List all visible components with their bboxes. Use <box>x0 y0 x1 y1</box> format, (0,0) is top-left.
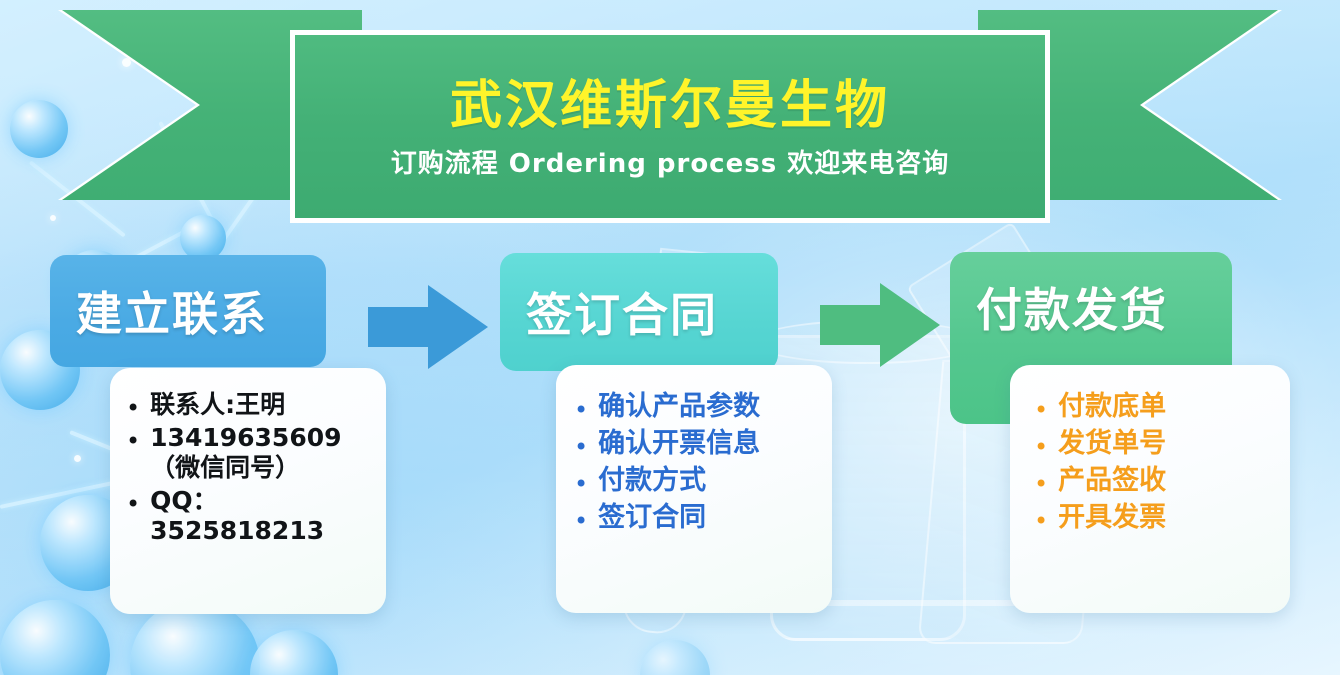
step2-body: • 确认产品参数 • 确认开票信息 • 付款方式 • 签订合同 <box>556 365 832 613</box>
step2-list: • 确认产品参数 • 确认开票信息 • 付款方式 • 签订合同 <box>574 389 820 535</box>
step3-list: • 付款底单 • 发货单号 • 产品签收 • 开具发票 <box>1034 389 1278 535</box>
bullet-icon: • <box>1034 398 1048 422</box>
list-item: • 13419635609 （微信同号） <box>126 423 372 484</box>
list-item: • QQ： 3525818213 <box>126 486 372 547</box>
list-item: • 确认产品参数 <box>574 389 820 424</box>
step2-item-3: 签订合同 <box>598 500 706 535</box>
step3-item-2: 产品签收 <box>1058 463 1166 498</box>
list-item: • 付款方式 <box>574 463 820 498</box>
poster-canvas: 武汉维斯尔曼生物 订购流程 Ordering process 欢迎来电咨询 建立… <box>0 0 1340 675</box>
list-item: • 联系人:王明 <box>126 390 372 421</box>
step1-phone: 13419635609 <box>150 423 341 452</box>
list-item: • 签订合同 <box>574 500 820 535</box>
step2-title: 签订合同 <box>500 279 718 345</box>
step3-item-0: 付款底单 <box>1058 389 1166 424</box>
bullet-icon: • <box>574 509 588 533</box>
step2-item-1: 确认开票信息 <box>598 426 760 461</box>
bullet-icon: • <box>126 396 140 420</box>
bullet-icon: • <box>1034 509 1048 533</box>
list-item: • 付款底单 <box>1034 389 1278 424</box>
step1-body: • 联系人:王明 • 13419635609 （微信同号） • QQ： 3525… <box>110 368 386 614</box>
arrow-step1-to-step2-icon <box>368 285 488 369</box>
arrow-head <box>880 283 940 367</box>
bullet-icon: • <box>126 429 140 453</box>
arrow-step2-to-step3-icon <box>820 283 940 367</box>
step1-header: 建立联系 <box>50 255 326 367</box>
step3-body: • 付款底单 • 发货单号 • 产品签收 • 开具发票 <box>1010 365 1290 613</box>
step1-qq-number: 3525818213 <box>150 516 324 545</box>
step1-item-1: 13419635609 （微信同号） <box>150 423 341 484</box>
list-item: • 确认开票信息 <box>574 426 820 461</box>
step2-header: 签订合同 <box>500 253 778 371</box>
list-item: • 发货单号 <box>1034 426 1278 461</box>
sparkle <box>74 455 81 462</box>
step1-item-2: QQ： 3525818213 <box>150 486 324 547</box>
bullet-icon: • <box>574 435 588 459</box>
bullet-icon: • <box>1034 435 1048 459</box>
step1-qq-label: QQ： <box>150 486 218 515</box>
step3-title: 付款发货 <box>950 252 1168 340</box>
step3-item-3: 开具发票 <box>1058 500 1166 535</box>
step1-wechat-note: （微信同号） <box>150 453 300 482</box>
bullet-icon: • <box>1034 472 1048 496</box>
list-item: • 开具发票 <box>1034 500 1278 535</box>
ribbon-panel: 武汉维斯尔曼生物 订购流程 Ordering process 欢迎来电咨询 <box>290 30 1050 223</box>
step2-item-0: 确认产品参数 <box>598 389 760 424</box>
list-item: • 产品签收 <box>1034 463 1278 498</box>
step1-title: 建立联系 <box>50 278 268 344</box>
banner-subtitle: 订购流程 Ordering process 欢迎来电咨询 <box>295 143 1045 180</box>
arrow-head <box>428 285 488 369</box>
bullet-icon: • <box>126 492 140 516</box>
step1-list: • 联系人:王明 • 13419635609 （微信同号） • QQ： 3525… <box>126 390 372 547</box>
bullet-icon: • <box>574 472 588 496</box>
header-ribbon: 武汉维斯尔曼生物 订购流程 Ordering process 欢迎来电咨询 <box>0 10 1340 225</box>
company-name: 武汉维斯尔曼生物 <box>295 63 1045 138</box>
step2-item-2: 付款方式 <box>598 463 706 498</box>
step1-item-0: 联系人:王明 <box>150 390 285 421</box>
step3-item-1: 发货单号 <box>1058 426 1166 461</box>
bullet-icon: • <box>574 398 588 422</box>
